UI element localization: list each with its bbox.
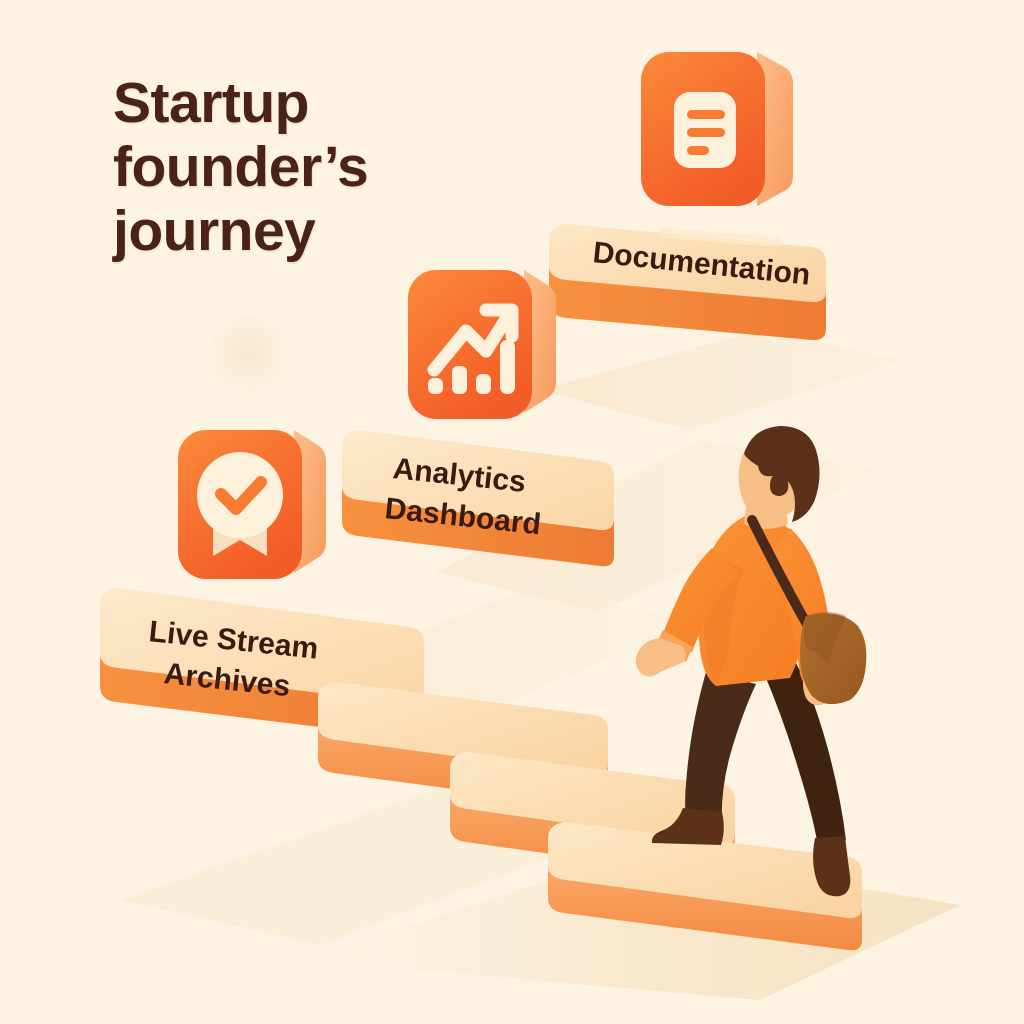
page-title: Startup founder’s journey bbox=[113, 72, 368, 263]
illustration-canvas: Documentation Analytics Dashboard bbox=[0, 0, 1024, 1024]
decorative-circle bbox=[207, 316, 291, 400]
bar-1 bbox=[428, 378, 443, 394]
document-line-1 bbox=[687, 110, 725, 119]
document-line-2 bbox=[687, 128, 725, 137]
bar-3 bbox=[476, 374, 491, 394]
ear bbox=[770, 474, 788, 496]
badge-circle bbox=[197, 452, 283, 538]
document-line-3 bbox=[687, 146, 709, 155]
bar-2 bbox=[452, 366, 467, 394]
document-lines-icon[interactable] bbox=[641, 52, 793, 206]
verified-badge-icon[interactable] bbox=[178, 430, 326, 579]
bar-4 bbox=[500, 340, 515, 394]
chart-growth-icon[interactable] bbox=[408, 270, 556, 419]
